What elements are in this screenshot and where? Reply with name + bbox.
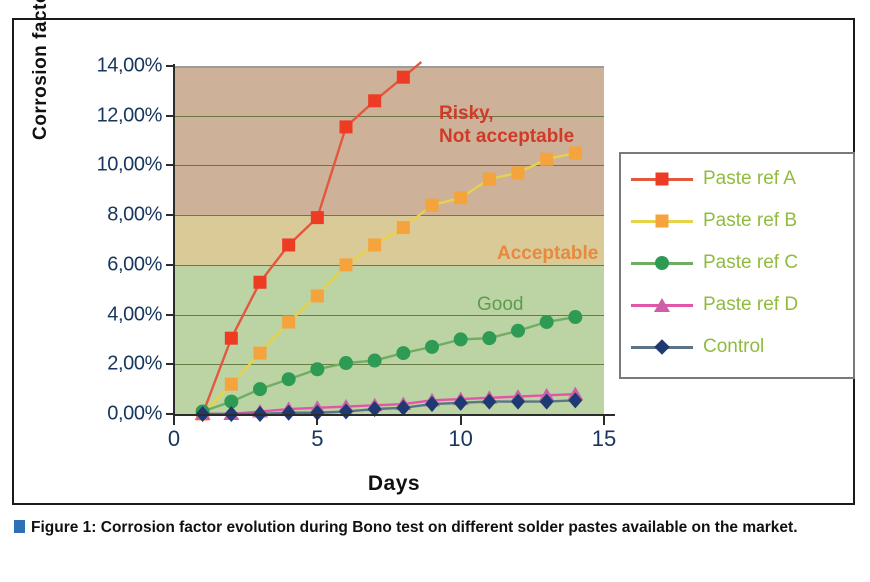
x-tick-label-2: 10 [431,426,491,452]
x-tick-label-0: 0 [144,426,204,452]
y-tick-label-1: 2,00% [14,353,162,376]
y-axis-title: Corrosion factor [30,0,52,140]
data-point [310,362,324,376]
data-point [425,340,439,354]
data-point [454,191,467,204]
data-point [282,238,295,251]
legend-item-paste-ref-c[interactable]: Paste ref C [631,250,798,276]
band-label-good: Good [477,293,523,316]
data-point [454,332,468,346]
data-point [482,331,496,345]
y-tick-7 [166,65,174,67]
data-point [397,71,410,84]
data-point [311,289,324,302]
y-tick-5 [166,164,174,166]
data-point [426,199,439,212]
data-point [282,405,296,421]
data-point [483,173,496,186]
x-axis-line [173,414,615,416]
data-point [340,120,353,133]
data-point [569,147,582,160]
y-tick-label-0: 0,00% [14,403,162,426]
legend-label: Control [703,336,764,358]
x-tick-label-1: 5 [287,426,347,452]
legend-swatch-square-icon [631,169,693,189]
band-label-acceptable: Acceptable [497,242,598,265]
x-tick-label-3: 15 [574,426,634,452]
data-point [225,332,238,345]
data-point [396,346,410,360]
band-label-risky: Risky, Not acceptable [439,102,574,148]
x-tick-0 [173,416,175,425]
legend-item-paste-ref-d[interactable]: Paste ref D [631,292,798,318]
y-tick-3 [166,264,174,266]
data-point [540,153,553,166]
caption-bullet-icon [14,520,25,533]
data-point [340,258,353,271]
x-axis-title: Days [284,472,504,496]
legend-marker-triangle-icon [654,298,670,312]
data-point [225,378,238,391]
data-point [254,276,267,289]
legend-label: Paste ref C [703,252,798,274]
data-point [425,396,439,412]
x-tick-3 [603,416,605,425]
data-point [368,94,381,107]
y-tick-1 [166,363,174,365]
data-point [311,211,324,224]
data-point [511,324,525,338]
legend-marker-square-icon [656,215,669,228]
data-point [568,310,582,324]
data-point [540,315,554,329]
data-point [482,394,496,410]
legend-item-paste-ref-b[interactable]: Paste ref B [631,208,797,234]
data-point [397,221,410,234]
y-tick-label-3: 6,00% [14,253,162,276]
figure-caption: Figure 1: Corrosion factor evolution dur… [14,516,844,540]
chart-frame: 0,00%2,00%4,00%6,00%8,00%10,00%12,00%14,… [12,18,855,505]
legend-marker-square-icon [656,173,669,186]
legend-swatch-square-icon [631,211,693,231]
y-tick-0 [166,413,174,415]
data-point [282,372,296,386]
legend-label: Paste ref D [703,294,798,316]
legend: Paste ref APaste ref BPaste ref CPaste r… [619,152,855,379]
y-tick-2 [166,314,174,316]
y-tick-label-2: 4,00% [14,303,162,326]
data-point [368,354,382,368]
y-tick-6 [166,115,174,117]
legend-label: Paste ref A [703,168,796,190]
x-tick-1 [316,416,318,425]
figure-root: 0,00%2,00%4,00%6,00%8,00%10,00%12,00%14,… [0,0,870,582]
y-tick-label-5: 10,00% [14,154,162,177]
data-point [339,356,353,370]
legend-marker-diamond-icon [654,339,670,355]
data-point [254,347,267,360]
legend-label: Paste ref B [703,210,797,232]
y-tick-4 [166,214,174,216]
data-point [512,166,525,179]
data-point [454,395,468,411]
legend-item-control[interactable]: Control [631,334,764,360]
data-point [253,382,267,396]
x-tick-2 [460,416,462,425]
caption-text: Figure 1: Corrosion factor evolution dur… [31,519,798,536]
series-paste-ref-a [196,62,421,421]
data-point [282,316,295,329]
legend-item-paste-ref-a[interactable]: Paste ref A [631,166,796,192]
legend-swatch-diamond-icon [631,337,693,357]
y-tick-label-4: 8,00% [14,204,162,227]
legend-swatch-triangle-icon [631,295,693,315]
data-point [368,238,381,251]
legend-marker-circle-icon [655,256,669,270]
legend-swatch-circle-icon [631,253,693,273]
